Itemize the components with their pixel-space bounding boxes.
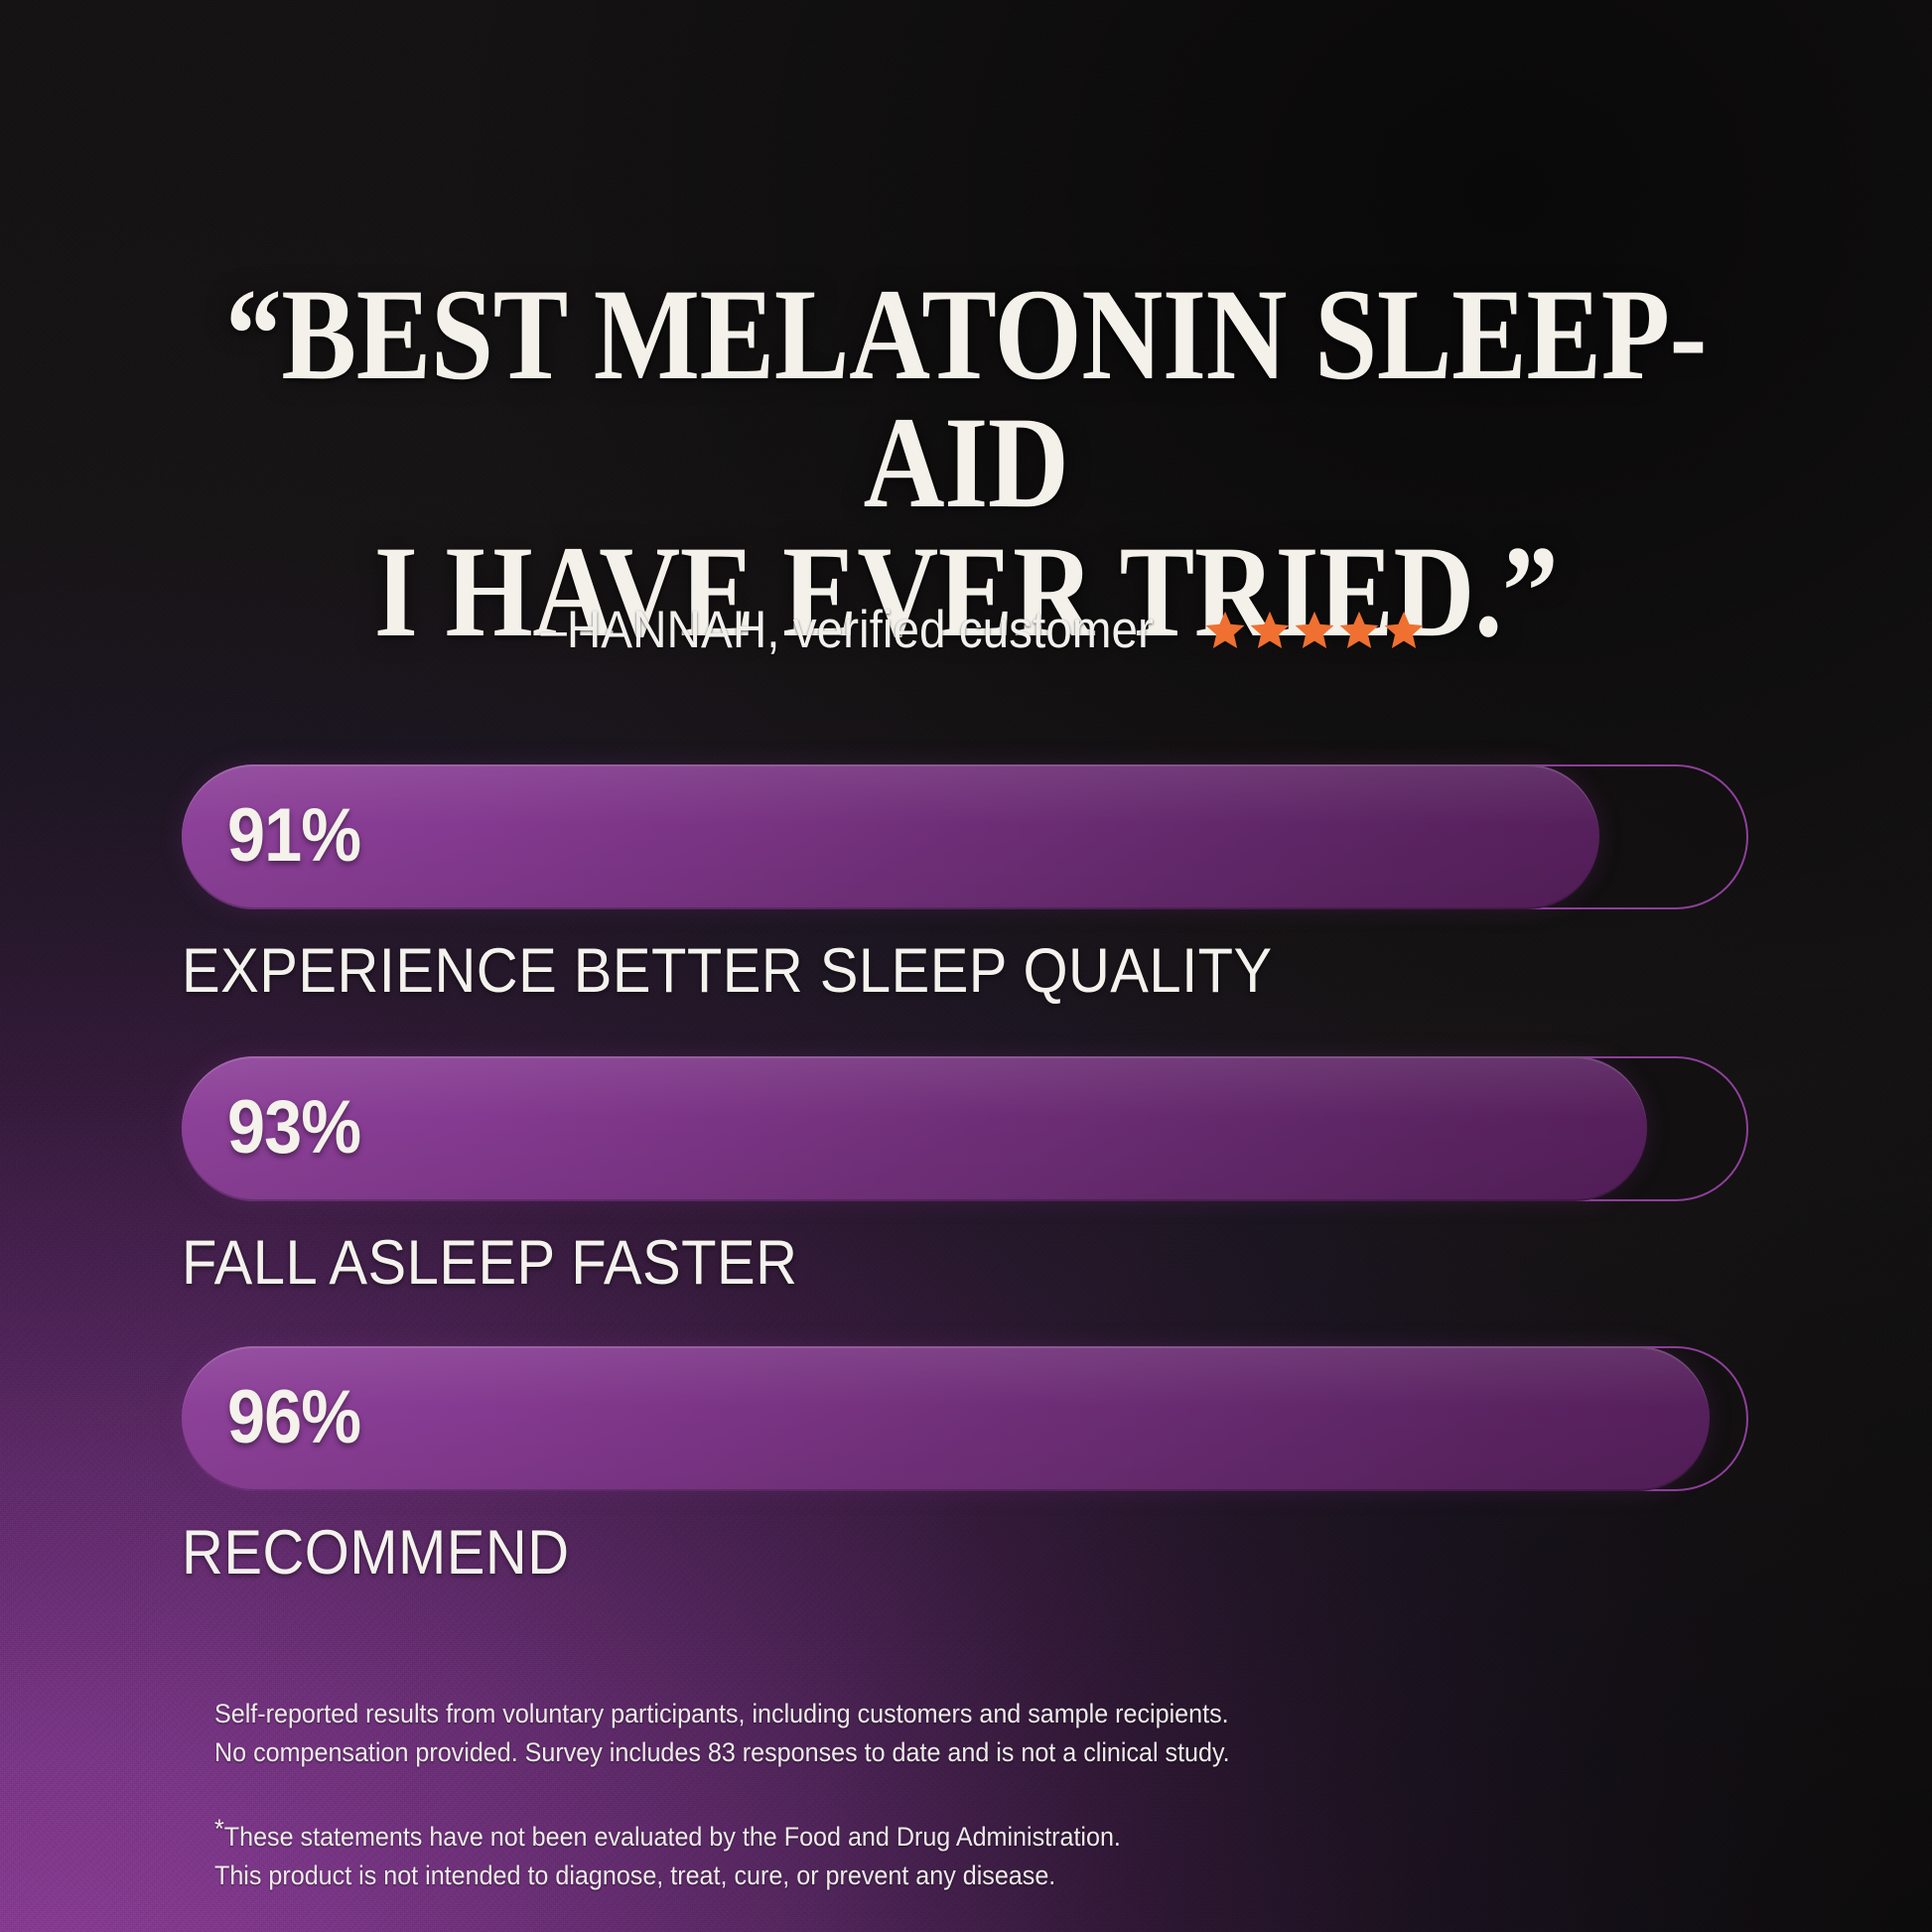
attribution: –HANNAH, verified customer xyxy=(0,600,1932,660)
headline-quote: “BEST MELATONIN SLEEP-AID I HAVE EVER TR… xyxy=(135,270,1797,655)
progress-bar-label: FALL ASLEEP FASTER xyxy=(182,1227,1623,1299)
progress-bar-track: 93% xyxy=(182,1056,1748,1201)
stat-block: 96%RECOMMEND xyxy=(182,1346,1748,1588)
progress-bar-label: RECOMMEND xyxy=(182,1517,1623,1588)
attribution-author: –HANNAH, verified customer xyxy=(540,600,1154,660)
progress-bar-percent: 93% xyxy=(227,1084,360,1171)
promo-graphic: “BEST MELATONIN SLEEP-AID I HAVE EVER TR… xyxy=(0,0,1932,1932)
stat-bar-list: 91%EXPERIENCE BETTER SLEEP QUALITY93%FAL… xyxy=(182,764,1748,1588)
stat-block: 91%EXPERIENCE BETTER SLEEP QUALITY xyxy=(182,764,1748,1007)
progress-bar-track: 96% xyxy=(182,1346,1748,1491)
progress-bar-label: EXPERIENCE BETTER SLEEP QUALITY xyxy=(182,935,1623,1007)
survey-note: Self-reported results from voluntary par… xyxy=(214,1695,1230,1772)
progress-bar-fill xyxy=(182,1346,1710,1491)
disclaimer-asterisk: * xyxy=(214,1814,224,1844)
progress-bar-percent: 96% xyxy=(227,1374,360,1460)
disclaimer-text: These statements have not been evaluated… xyxy=(214,1822,1121,1890)
star-icon xyxy=(1293,609,1336,652)
star-icon xyxy=(1248,609,1292,652)
star-icon xyxy=(1203,609,1247,652)
progress-bar-fill xyxy=(182,764,1599,909)
stat-block: 93%FALL ASLEEP FASTER xyxy=(182,1056,1748,1299)
star-icon xyxy=(1382,609,1426,652)
star-rating xyxy=(1203,609,1426,652)
progress-bar-percent: 91% xyxy=(227,792,360,879)
fda-disclaimer: *These statements have not been evaluate… xyxy=(214,1818,1121,1895)
star-icon xyxy=(1337,609,1381,652)
progress-bar-track: 91% xyxy=(182,764,1748,909)
progress-bar-fill xyxy=(182,1056,1647,1201)
